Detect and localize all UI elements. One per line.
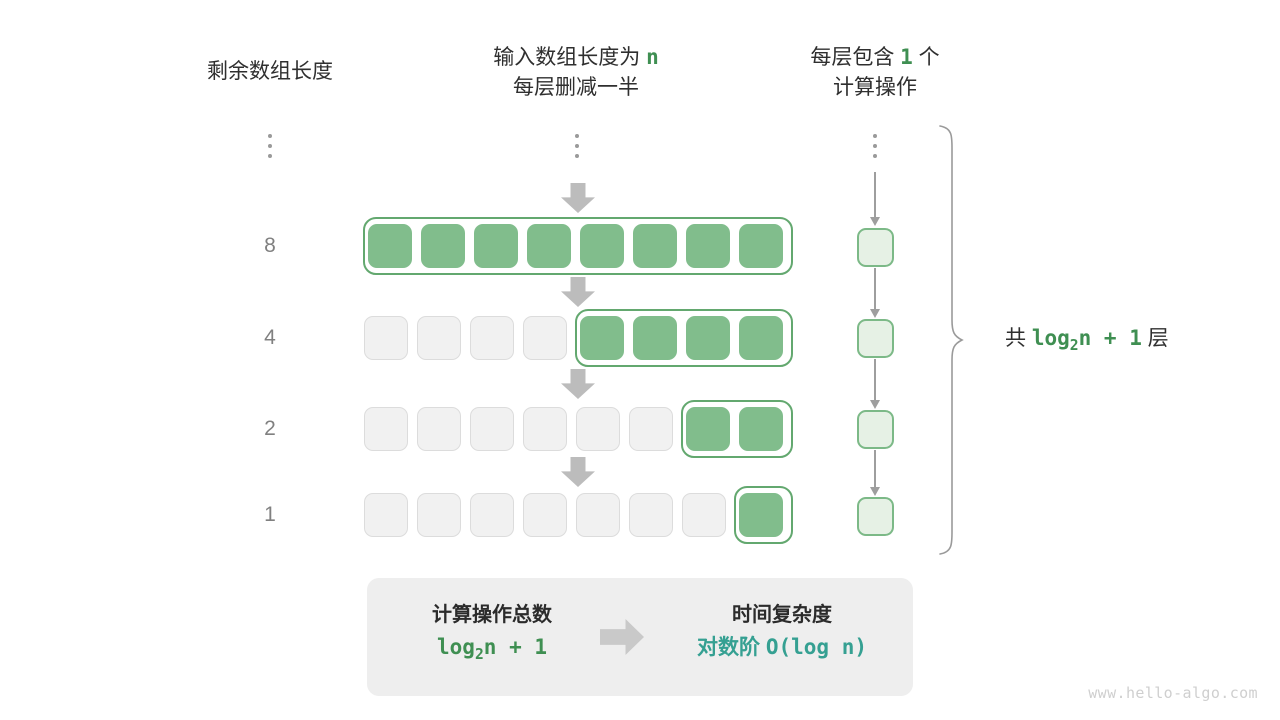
header-right-line1-value: 1 xyxy=(900,45,913,69)
array-cell-filled xyxy=(580,316,624,360)
summary-left-value-main: log xyxy=(437,635,475,659)
watermark: www.hello-algo.com xyxy=(1088,684,1258,702)
dot xyxy=(575,154,579,158)
array-cell-filled xyxy=(527,224,571,268)
row-label-4: 4 xyxy=(240,326,300,350)
array-cell-filled xyxy=(580,224,624,268)
operation-box-2 xyxy=(857,410,894,449)
array-cell-filled xyxy=(474,224,518,268)
array-cell-empty xyxy=(523,493,567,537)
dot xyxy=(873,154,877,158)
op-connector-arrow-0 xyxy=(874,172,876,218)
ellipsis-left-column xyxy=(260,134,280,164)
header-left: 剩余数组长度 xyxy=(170,57,370,87)
array-cell-filled xyxy=(633,316,677,360)
level-count-label: 共 log2n + 1 层 xyxy=(1005,324,1169,360)
summary-right-value: 对数阶 O(log n) xyxy=(672,630,892,665)
array-cell-filled xyxy=(686,316,730,360)
array-cell-empty xyxy=(417,407,461,451)
summary-left-value-rest: n + 1 xyxy=(484,635,547,659)
array-cell-empty xyxy=(470,493,514,537)
operation-box-0 xyxy=(857,228,894,267)
array-cell-filled xyxy=(739,316,783,360)
array-cell-filled xyxy=(686,224,730,268)
header-middle: 输入数组长度为 n 每层删减一半 xyxy=(436,42,716,103)
dot xyxy=(873,134,877,138)
dot xyxy=(268,144,272,148)
arrow-right-icon xyxy=(600,619,644,655)
array-cell-filled xyxy=(739,224,783,268)
block-arrow-down-2 xyxy=(561,369,595,399)
block-arrow-down-0 xyxy=(561,183,595,213)
header-middle-line1-prefix: 输入数组长度为 xyxy=(493,46,646,69)
summary-right-value-cn: 对数阶 xyxy=(697,636,766,659)
array-cell-empty xyxy=(364,316,408,360)
array-cell-filled xyxy=(368,224,412,268)
array-cell-empty xyxy=(364,407,408,451)
array-cell-empty xyxy=(417,316,461,360)
dot xyxy=(268,154,272,158)
summary-left-title: 计算操作总数 xyxy=(382,600,602,630)
array-cell-filled xyxy=(686,407,730,451)
summary-right: 时间复杂度 对数阶 O(log n) xyxy=(672,600,892,665)
ellipsis-right-column xyxy=(865,134,885,164)
row-label-8: 8 xyxy=(240,234,300,258)
brace-formula-sub: 2 xyxy=(1070,337,1079,354)
array-cell-empty xyxy=(523,407,567,451)
dot xyxy=(575,144,579,148)
header-middle-line1-value: n xyxy=(646,45,659,69)
header-right-line1-prefix: 每层包含 xyxy=(810,46,900,69)
array-cell-empty xyxy=(364,493,408,537)
op-connector-arrow-2 xyxy=(874,359,876,401)
header-right-line1: 每层包含 1 个 xyxy=(770,42,980,73)
array-cell-filled xyxy=(739,407,783,451)
diagram-canvas: 剩余数组长度 输入数组长度为 n 每层删减一半 每层包含 1 个 计算操作 8 … xyxy=(0,0,1280,720)
array-cell-filled xyxy=(739,493,783,537)
array-cell-empty xyxy=(576,407,620,451)
header-right-line2: 计算操作 xyxy=(770,73,980,103)
summary-right-value-formula: O(log n) xyxy=(766,635,867,659)
brace-suffix: 层 xyxy=(1142,327,1169,350)
array-cell-empty xyxy=(576,493,620,537)
row-label-1: 1 xyxy=(240,503,300,527)
brace-formula-main: log xyxy=(1032,326,1070,350)
level-count-brace xyxy=(930,122,970,558)
op-connector-arrow-1 xyxy=(874,268,876,310)
dot xyxy=(873,144,877,148)
summary-left-value: log2n + 1 xyxy=(382,630,602,672)
header-right: 每层包含 1 个 计算操作 xyxy=(770,42,980,103)
block-arrow-down-1 xyxy=(561,277,595,307)
dot xyxy=(268,134,272,138)
summary-right-title: 时间复杂度 xyxy=(672,600,892,630)
block-arrow-down-3 xyxy=(561,457,595,487)
array-cell-filled xyxy=(421,224,465,268)
header-right-line1-suffix: 个 xyxy=(913,46,940,69)
operation-box-3 xyxy=(857,497,894,536)
brace-formula-rest: n + 1 xyxy=(1079,326,1142,350)
array-cell-filled xyxy=(633,224,677,268)
array-cell-empty xyxy=(682,493,726,537)
array-cell-empty xyxy=(523,316,567,360)
brace-formula: log2n + 1 xyxy=(1032,326,1142,350)
array-cell-empty xyxy=(470,407,514,451)
summary-left-value-sub: 2 xyxy=(475,646,484,663)
header-middle-line2: 每层删减一半 xyxy=(436,73,716,103)
array-cell-empty xyxy=(629,493,673,537)
header-middle-line1: 输入数组长度为 n xyxy=(436,42,716,73)
array-cell-empty xyxy=(629,407,673,451)
brace-prefix: 共 xyxy=(1005,327,1032,350)
summary-panel: 计算操作总数 log2n + 1 时间复杂度 对数阶 O(log n) xyxy=(367,578,913,696)
summary-left: 计算操作总数 log2n + 1 xyxy=(382,600,602,672)
row-label-2: 2 xyxy=(240,417,300,441)
array-cell-empty xyxy=(417,493,461,537)
operation-box-1 xyxy=(857,319,894,358)
array-cell-empty xyxy=(470,316,514,360)
dot xyxy=(575,134,579,138)
op-connector-arrow-3 xyxy=(874,450,876,488)
ellipsis-middle-column xyxy=(567,134,587,164)
